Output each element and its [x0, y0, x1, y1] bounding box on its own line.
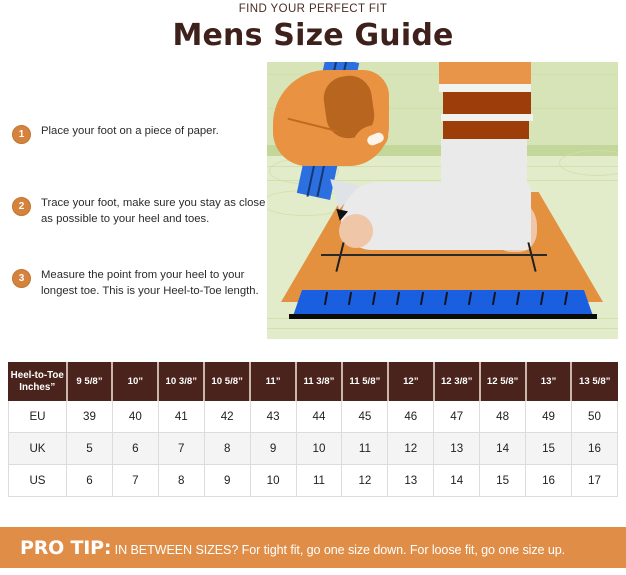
row-label-eu: EU [9, 401, 67, 433]
table-header-cell: 10” [112, 363, 158, 401]
table-cell: 5 [67, 433, 113, 465]
step-number-badge: 2 [12, 197, 31, 216]
size-guide-page: FIND YOUR PERFECT FIT Mens Size Guide 1 … [0, 0, 626, 575]
row-label-us: US [9, 465, 67, 497]
sock-stripe-white [439, 84, 531, 92]
table-cell: 6 [112, 433, 158, 465]
instruction-step: 2 Trace your foot, make sure you stay as… [12, 196, 270, 242]
table-cell: 47 [434, 401, 480, 433]
table-header-cell: 11” [250, 363, 296, 401]
table-cell: 11 [342, 433, 388, 465]
table-row: US 6 7 8 9 10 11 12 13 14 15 16 17 [9, 465, 618, 497]
table-cell: 6 [67, 465, 113, 497]
table-header-cell: 11 3/8” [296, 363, 342, 401]
ruler [293, 290, 593, 316]
table-cell: 14 [434, 465, 480, 497]
table-header-cell: 10 5/8” [204, 363, 250, 401]
heel-to-toe-measure-line [321, 254, 547, 256]
table-cell: 41 [158, 401, 204, 433]
table-cell: 9 [250, 433, 296, 465]
table-cell: 8 [204, 433, 250, 465]
step-text: Trace your foot, make sure you stay as c… [41, 196, 270, 227]
table-header-cell: 13 5/8” [571, 363, 617, 401]
table-header-cell: 13” [526, 363, 572, 401]
step-text: Measure the point from your heel to your… [41, 268, 270, 299]
size-chart-table: Heel-to-Toe Inches” 9 5/8” 10” 10 3/8” 1… [8, 362, 618, 497]
table-header-cell: 12 3/8” [434, 363, 480, 401]
table-cell: 15 [480, 465, 526, 497]
table-header-row: Heel-to-Toe Inches” 9 5/8” 10” 10 3/8” 1… [9, 363, 618, 401]
table-cell: 12 [342, 465, 388, 497]
table-cell: 50 [571, 401, 617, 433]
table-cell: 16 [526, 465, 572, 497]
instruction-step: 1 Place your foot on a piece of paper. [12, 124, 270, 170]
table-cell: 17 [571, 465, 617, 497]
table-cell: 11 [296, 465, 342, 497]
table-header-cell: 12 5/8” [480, 363, 526, 401]
sock-stripe-brown [443, 92, 531, 114]
table-cell: 39 [67, 401, 113, 433]
table-cell: 16 [571, 433, 617, 465]
table-cell: 43 [250, 401, 296, 433]
table-cell: 13 [388, 465, 434, 497]
pro-tip-content: PRO TIP: IN BETWEEN SIZES? For tight fit… [0, 537, 565, 559]
table-row: UK 5 6 7 8 9 10 11 12 13 14 15 16 [9, 433, 618, 465]
pro-tip-label: PRO TIP: [20, 537, 111, 559]
instruction-steps: 1 Place your foot on a piece of paper. 2… [12, 118, 270, 262]
row-label-uk: UK [9, 433, 67, 465]
table-cell: 46 [388, 401, 434, 433]
table-cell: 12 [388, 433, 434, 465]
page-kicker: FIND YOUR PERFECT FIT [0, 3, 626, 15]
table-cell: 7 [112, 465, 158, 497]
instruction-step: 3 Measure the point from your heel to yo… [12, 268, 270, 314]
table-header-cell: 9 5/8” [67, 363, 113, 401]
pro-tip-banner: PRO TIP: IN BETWEEN SIZES? For tight fit… [0, 527, 626, 568]
table-row: EU 39 40 41 42 43 44 45 46 47 48 49 50 [9, 401, 618, 433]
pencil-lead [334, 209, 348, 222]
step-number-badge: 1 [12, 125, 31, 144]
table-cell: 45 [342, 401, 388, 433]
table-header-cell: 10 3/8” [158, 363, 204, 401]
table-cell: 10 [296, 433, 342, 465]
table-cell: 48 [480, 401, 526, 433]
size-table: Heel-to-Toe Inches” 9 5/8” 10” 10 3/8” 1… [8, 362, 618, 497]
table-header-cell: 11 5/8” [342, 363, 388, 401]
foot-measuring-illustration [267, 62, 618, 339]
wood-grain-line [267, 328, 618, 329]
table-cell: 10 [250, 465, 296, 497]
table-cell: 14 [480, 433, 526, 465]
table-cell: 49 [526, 401, 572, 433]
sock-cuff-orange [439, 62, 531, 84]
table-cell: 44 [296, 401, 342, 433]
pencil-tip [324, 179, 359, 213]
step-text: Place your foot on a piece of paper. [41, 124, 270, 140]
step-number-badge: 3 [12, 269, 31, 288]
table-cell: 40 [112, 401, 158, 433]
table-cell: 42 [204, 401, 250, 433]
ruler-edge [289, 314, 597, 319]
table-cell: 13 [434, 433, 480, 465]
table-cell: 15 [526, 433, 572, 465]
sock-stripe-brown [443, 121, 529, 139]
table-cell: 7 [158, 433, 204, 465]
page-title: Mens Size Guide [0, 18, 626, 53]
pro-tip-text: IN BETWEEN SIZES? For tight fit, go one … [111, 543, 565, 557]
sock-stripe-white [441, 114, 533, 121]
table-cell: 8 [158, 465, 204, 497]
table-header-rowlabel: Heel-to-Toe Inches” [9, 363, 67, 401]
table-header-cell: 12” [388, 363, 434, 401]
table-cell: 9 [204, 465, 250, 497]
